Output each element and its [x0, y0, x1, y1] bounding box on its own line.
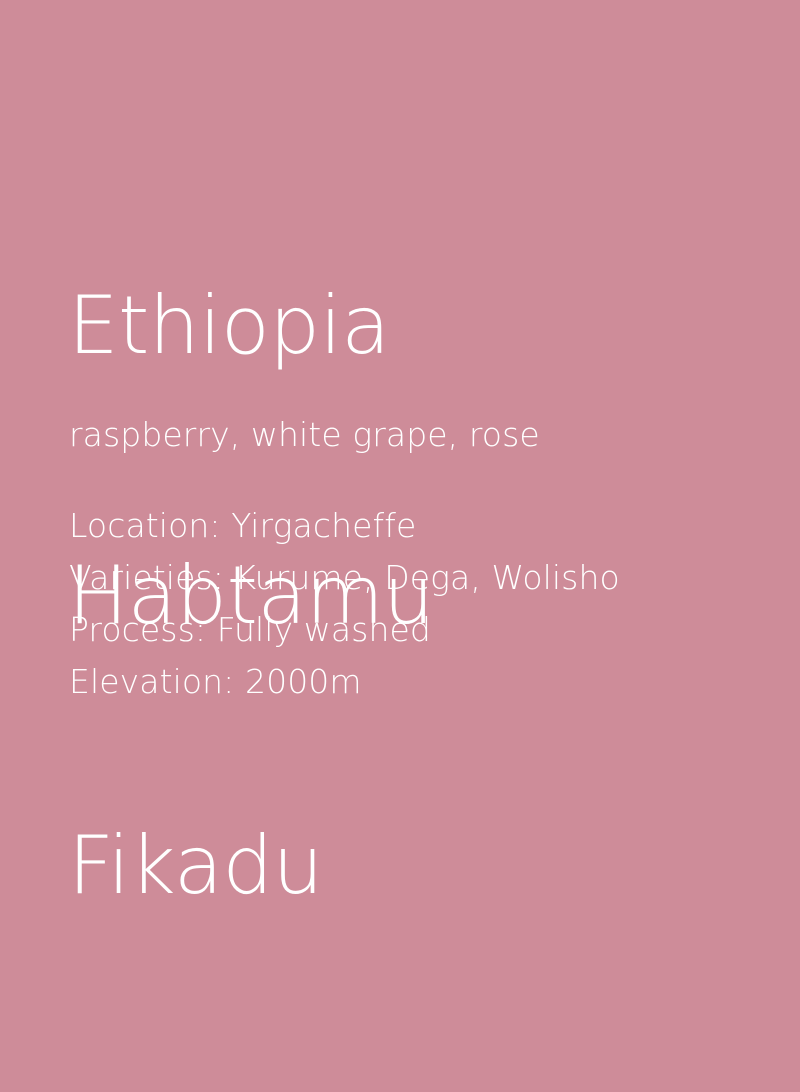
- spec-label-process: Process:: [69, 610, 206, 649]
- spec-value-process-text: Fully washed: [217, 610, 431, 649]
- spec-label-location: Location:: [69, 506, 221, 545]
- spec-value-varieties-text: Kurume, Dega, Wolisho: [235, 558, 620, 597]
- list-item: Elevation: 2000m: [69, 656, 789, 708]
- list-item: Varieties: Kurume, Dega, Wolisho: [69, 552, 789, 604]
- spec-list: Location: Yirgacheffe Varieties: Kurume,…: [69, 500, 789, 708]
- page-title-line-1: Ethiopia: [68, 281, 768, 371]
- product-card: Ethiopia Habtamu Fikadu raspberry, white…: [0, 0, 800, 800]
- list-item: Process: Fully washed: [69, 604, 789, 656]
- spec-value-elevation-text: 2000m: [245, 662, 362, 701]
- list-item: Location: Yirgacheffe: [69, 500, 789, 552]
- spec-label-varieties: Varieties:: [69, 558, 224, 597]
- spec-label-elevation: Elevation:: [69, 662, 234, 701]
- spec-value-location-text: Yirgacheffe: [231, 506, 416, 545]
- page-title-line-3: Fikadu: [68, 821, 768, 911]
- tasting-notes: raspberry, white grape, rose: [69, 414, 769, 456]
